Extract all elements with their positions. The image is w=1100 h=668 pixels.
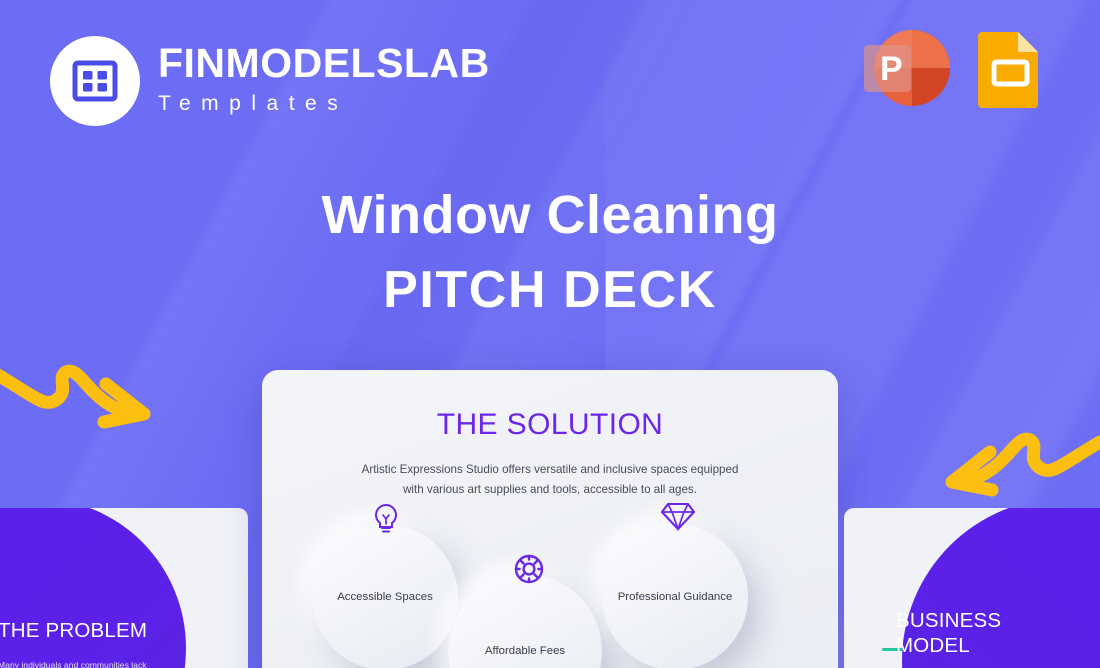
logo-subtitle: Templates	[158, 88, 490, 120]
feature-label: Affordable Fees	[485, 643, 565, 659]
business-model-heading: BUSINESS MODEL	[896, 608, 1076, 658]
powerpoint-icon[interactable]: P	[854, 24, 954, 112]
slide-the-problem[interactable]: THE PROBLEM Many individuals and communi…	[0, 508, 248, 668]
slide-seam-right	[838, 508, 839, 668]
hero-title-block: Window Cleaning PITCH DECK	[0, 186, 1100, 318]
solution-features: Accessible Spaces Affordable Fees	[262, 498, 838, 668]
feature-bubble-accessible-spaces[interactable]: Accessible Spaces	[312, 524, 458, 668]
slide-the-solution[interactable]: THE SOLUTION Artistic Expressions Studio…	[262, 370, 838, 668]
problem-purple-blob	[0, 508, 186, 668]
format-icons-group: P	[854, 24, 1052, 112]
slide-carousel: THE PROBLEM Many individuals and communi…	[0, 370, 1100, 668]
svg-text:P: P	[880, 50, 903, 88]
feature-label: Accessible Spaces	[337, 589, 433, 605]
slide-business-model[interactable]: Workshops BUSINESS MODEL Revenue generat…	[844, 508, 1100, 668]
diamond-icon	[661, 500, 695, 537]
power-symbol-icon	[189, 31, 205, 52]
template-preview-banner: FINMODELSLAB Templates P	[0, 0, 1100, 668]
hero-line-1: Window Cleaning	[0, 186, 1100, 244]
google-slides-icon[interactable]	[968, 26, 1052, 110]
grid-window-icon	[50, 36, 140, 126]
problem-heading: THE PROBLEM	[0, 618, 188, 643]
logo-title: FINMODELSLAB	[158, 43, 490, 84]
lifebuoy-icon	[512, 552, 546, 591]
feature-bubble-professional-guidance[interactable]: Professional Guidance	[602, 524, 748, 668]
solution-subtitle: Artistic Expressions Studio offers versa…	[350, 460, 750, 500]
feature-label: Professional Guidance	[618, 589, 733, 605]
lightbulb-icon	[370, 502, 402, 541]
solution-title: THE SOLUTION	[262, 408, 838, 442]
hero-line-2: PITCH DECK	[0, 262, 1100, 318]
problem-body-text: Many individuals and communities lack ac…	[0, 658, 184, 668]
brand-logo[interactable]: FINMODELSLAB Templates	[50, 36, 490, 126]
